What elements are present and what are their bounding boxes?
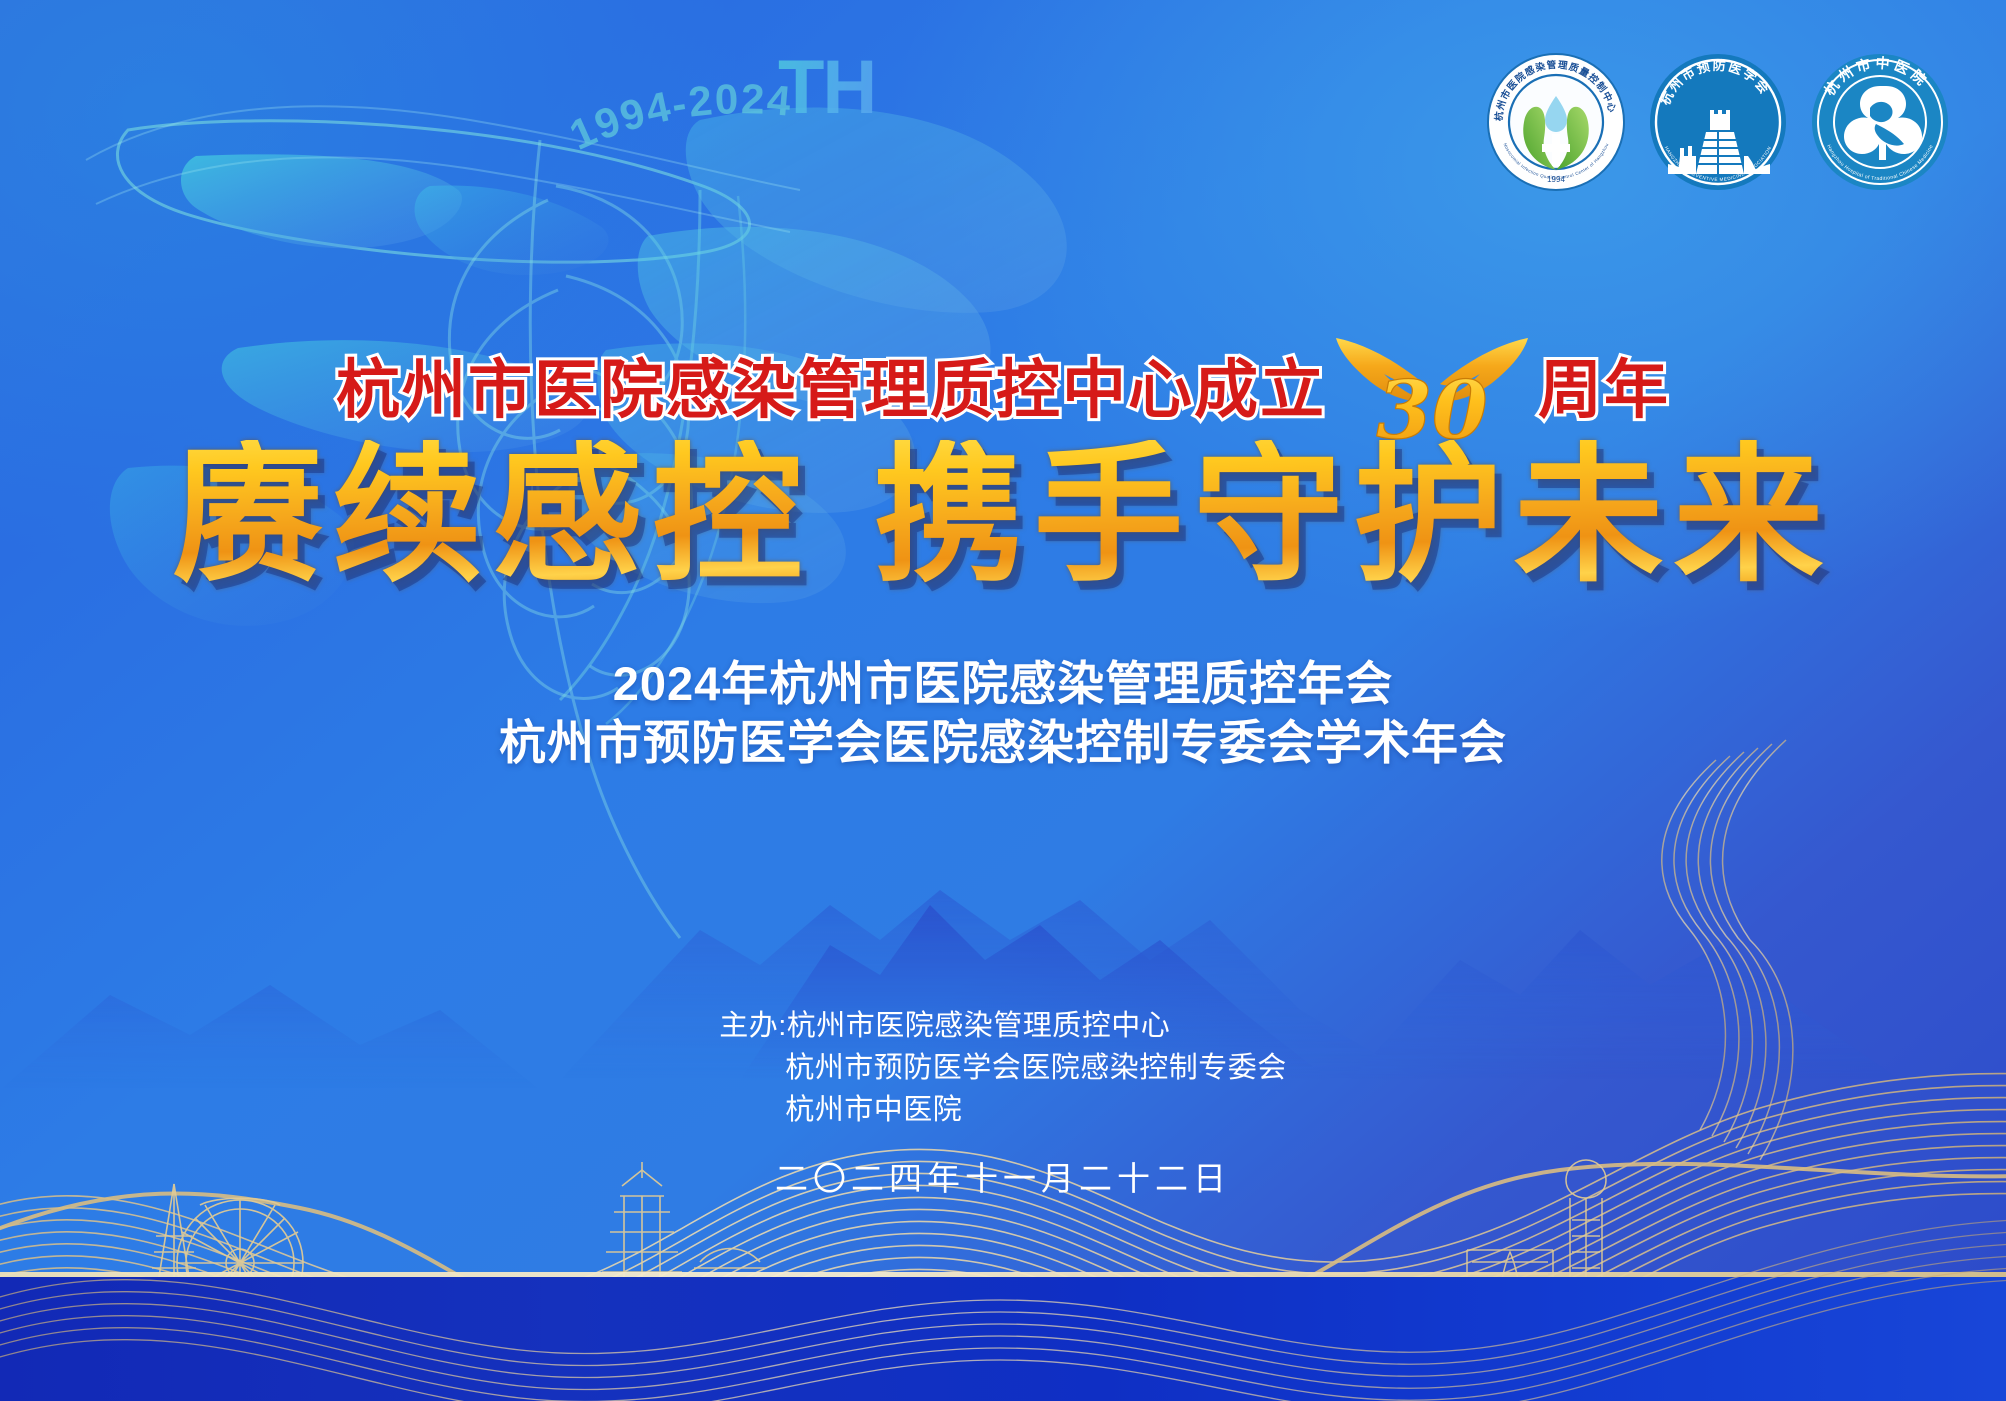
th-ordinal-watermark: TH <box>778 44 875 131</box>
event-date: 二〇二四年十一月二十二日 <box>0 1152 2006 1200</box>
conference-banner: 1994-2024 TH 杭州市医院感染管理质量控制中心 <box>0 0 2006 1401</box>
subtitle-line-1: 2024年杭州市医院感染管理质控年会 <box>0 655 2006 714</box>
logo-group: 杭州市医院感染管理质量控制中心 Nosocomial Infection Qua… <box>1486 52 1950 192</box>
years-text: 1994-2024 <box>563 75 795 159</box>
organizer-line-3: 杭州市中医院 <box>719 1089 1287 1131</box>
ocean-band <box>0 1277 2006 1401</box>
organizer-line-1: 主办:杭州市医院感染管理质控中心 <box>719 1005 1287 1047</box>
logo-preventive-medicine-association: 杭州市预防医学会 HANGZHOU PREVENTIVE MEDICINE AS… <box>1648 52 1788 192</box>
subtitle-line-2: 杭州市预防医学会医院感染控制专委会学术年会 <box>0 714 2006 773</box>
main-title-part1: 赓续感控 <box>173 440 813 590</box>
anniversary-prefix: 杭州市医院感染管理质控中心成立 <box>336 358 1326 422</box>
conference-subtitle: 2024年杭州市医院感染管理质控年会 杭州市预防医学会医院感染控制专委会学术年会 <box>0 655 2006 773</box>
anniversary-suffix: 周年 <box>1538 358 1670 422</box>
main-title: 赓续感控 携手守护未来 <box>0 440 2006 590</box>
svg-text:1994-2024: 1994-2024 <box>563 75 795 159</box>
organizers-block: 主办:杭州市医院感染管理质控中心 杭州市预防医学会医院感染控制专委会 杭州市中医… <box>0 1005 2006 1131</box>
logo-quality-control-center: 杭州市医院感染管理质量控制中心 Nosocomial Infection Qua… <box>1486 52 1626 192</box>
logo-hangzhou-tcm-hospital: 杭州市中医院 Hangzhou Hospital of Traditional … <box>1810 52 1950 192</box>
main-title-part2: 携手守护未来 <box>873 440 1833 590</box>
logo1-year: 1994 <box>1547 175 1565 184</box>
organizer-line-2: 杭州市预防医学会医院感染控制专委会 <box>719 1047 1287 1089</box>
